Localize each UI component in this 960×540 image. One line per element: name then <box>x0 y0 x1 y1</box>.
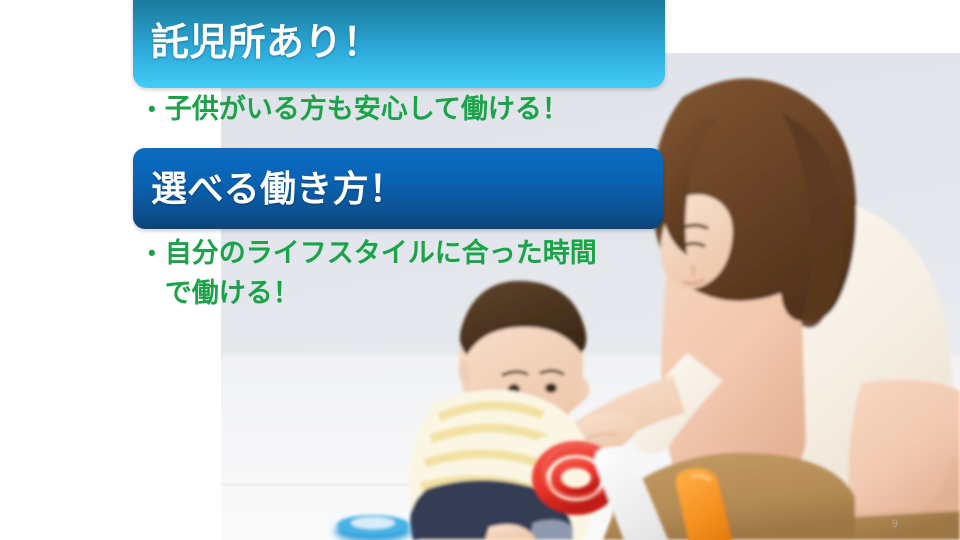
banner-childcare: 託児所あり！ <box>133 0 665 88</box>
bullet-work-style-text: 自分のライフスタイルに合った時間 で働ける！ <box>165 234 660 314</box>
bullet-marker-icon: • <box>148 234 156 272</box>
banner-childcare-heading: 託児所あり！ <box>151 24 381 64</box>
banner-work-style: 選べる働き方！ <box>133 148 663 229</box>
bullet-childcare-text: 子供がいる方も安心して働ける！ <box>165 90 668 130</box>
slide-canvas: 託児所あり！ • 子供がいる方も安心して働ける！ 選べる働き方！ • 自分のライ… <box>0 0 960 540</box>
page-number: 9 <box>892 518 898 530</box>
blue-ring-toy <box>335 515 411 540</box>
bullet-work-style: • 自分のライフスタイルに合った時間 で働ける！ <box>148 234 660 314</box>
bullet-childcare: • 子供がいる方も安心して働ける！ <box>148 90 668 130</box>
banner-work-style-heading: 選べる働き方！ <box>151 170 405 208</box>
bullet-marker-icon: • <box>148 90 156 128</box>
